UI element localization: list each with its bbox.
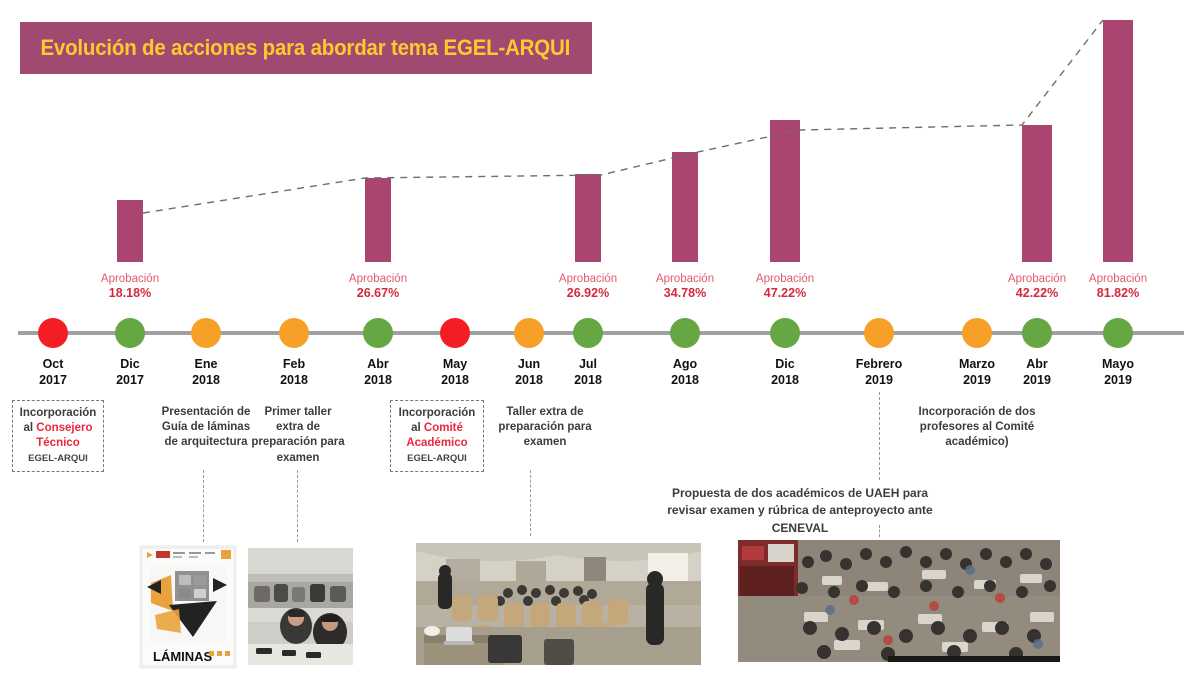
note-line-1: Incorporación: [397, 406, 477, 421]
note-subtext: EGEL-ARQUI: [19, 453, 97, 466]
connector-febrero-2019: [879, 392, 880, 480]
timeline-node-ene-2018[interactable]: [191, 318, 221, 348]
infographic-canvas: Evolución de acciones para abordar tema …: [0, 0, 1200, 673]
timeline-node-febrero-2019[interactable]: [864, 318, 894, 348]
photo-crowded-hall[interactable]: [738, 540, 1060, 662]
approval-word: Aprobación: [635, 272, 735, 286]
approval-value: 18.18%: [80, 286, 180, 302]
note-febrero-2019: Propuesta de dos académicos de UAEH para…: [660, 485, 940, 537]
approval-word: Aprobación: [1068, 272, 1168, 286]
approval-word: Aprobación: [735, 272, 835, 286]
note-jun-2018: Taller extra de preparación para examen: [495, 405, 595, 451]
connector-jun-2018: [530, 470, 531, 536]
approval-value: 34.78%: [635, 286, 735, 302]
timeline-node-feb-2018[interactable]: [279, 318, 309, 348]
approval-label-ago-2018: Aprobación 34.78%: [635, 272, 735, 302]
timeline-date-mayo-2019: Mayo 2019: [1068, 356, 1168, 388]
approval-value: 81.82%: [1068, 286, 1168, 302]
timeline-node-abr-2019[interactable]: [1022, 318, 1052, 348]
note-highlight: Consejero: [36, 422, 92, 434]
connector-febrero-2019-lower: [879, 525, 880, 537]
note-plain: al: [411, 422, 424, 434]
date-month: Jul: [538, 356, 638, 372]
approval-label-dic-2017: Aprobación 18.18%: [80, 272, 180, 302]
timeline-date-jul-2018: Jul 2018: [538, 356, 638, 388]
note-line-2: al Comité: [397, 421, 477, 436]
timeline-node-abr-2018[interactable]: [363, 318, 393, 348]
approval-word: Aprobación: [328, 272, 428, 286]
note-may-2018: Incorporación al Comité Académico EGEL-A…: [390, 400, 484, 472]
date-month: Ene: [156, 356, 256, 372]
note-oct-2017: Incorporación al Consejero Técnico EGEL-…: [12, 400, 104, 472]
approval-value: 47.22%: [735, 286, 835, 302]
timeline-node-dic-2018[interactable]: [770, 318, 800, 348]
timeline-node-oct-2017[interactable]: [38, 318, 68, 348]
date-year: 2018: [156, 372, 256, 388]
timeline-node-marzo-2019[interactable]: [962, 318, 992, 348]
timeline-node-jul-2018[interactable]: [573, 318, 603, 348]
note-line-1: Incorporación: [19, 406, 97, 421]
connector-ene-2018: [203, 470, 204, 542]
date-month: Ago: [635, 356, 735, 372]
date-month: Dic: [735, 356, 835, 372]
photo-classroom-workshop[interactable]: [248, 548, 353, 665]
timeline-node-mayo-2019[interactable]: [1103, 318, 1133, 348]
timeline-node-may-2018[interactable]: [440, 318, 470, 348]
timeline-node-jun-2018[interactable]: [514, 318, 544, 348]
note-highlight: Comité: [424, 422, 463, 434]
photo-auditorium-graphic: [416, 543, 701, 665]
note-feb-2018: Primer taller extra de preparación para …: [250, 405, 346, 466]
photo-laminas[interactable]: LÁMINAS: [139, 545, 237, 669]
photo-auditorium[interactable]: [416, 543, 701, 665]
date-year: 2018: [538, 372, 638, 388]
date-year: 2018: [635, 372, 735, 388]
timeline-date-dic-2018: Dic 2018: [735, 356, 835, 388]
timeline-date-febrero-2019: Febrero 2019: [829, 356, 929, 388]
approval-label-dic-2018: Aprobación 47.22%: [735, 272, 835, 302]
photo-crowded-hall-graphic: [738, 540, 1060, 662]
timeline-node-dic-2017[interactable]: [115, 318, 145, 348]
approval-label-jul-2018: Aprobación 26.92%: [538, 272, 638, 302]
date-year: 2019: [1068, 372, 1168, 388]
note-line-3: Académico: [397, 436, 477, 451]
note-marzo-2019: Incorporación de dos profesores al Comit…: [916, 405, 1038, 451]
approval-value: 26.92%: [538, 286, 638, 302]
photo-laminas-graphic: LÁMINAS: [139, 545, 237, 669]
note-line-3: Técnico: [19, 436, 97, 451]
date-month: Febrero: [829, 356, 929, 372]
note-ene-2018: Presentación de Guía de láminas de arqui…: [158, 405, 254, 451]
note-subtext: EGEL-ARQUI: [397, 453, 477, 466]
approval-label-mayo-2019: Aprobación 81.82%: [1068, 272, 1168, 302]
approval-word: Aprobación: [538, 272, 638, 286]
connector-feb-2018: [297, 470, 298, 542]
date-year: 2019: [829, 372, 929, 388]
svg-text:LÁMINAS: LÁMINAS: [153, 649, 213, 664]
note-line-2: al Consejero: [19, 421, 97, 436]
approval-word: Aprobación: [80, 272, 180, 286]
approval-value: 26.67%: [328, 286, 428, 302]
timeline-date-ago-2018: Ago 2018: [635, 356, 735, 388]
timeline-date-ene-2018: Ene 2018: [156, 356, 256, 388]
note-plain: al: [23, 422, 36, 434]
date-year: 2018: [735, 372, 835, 388]
timeline-node-ago-2018[interactable]: [670, 318, 700, 348]
date-month: Mayo: [1068, 356, 1168, 372]
approval-label-abr-2018: Aprobación 26.67%: [328, 272, 428, 302]
photo-classroom-graphic: [248, 548, 353, 665]
